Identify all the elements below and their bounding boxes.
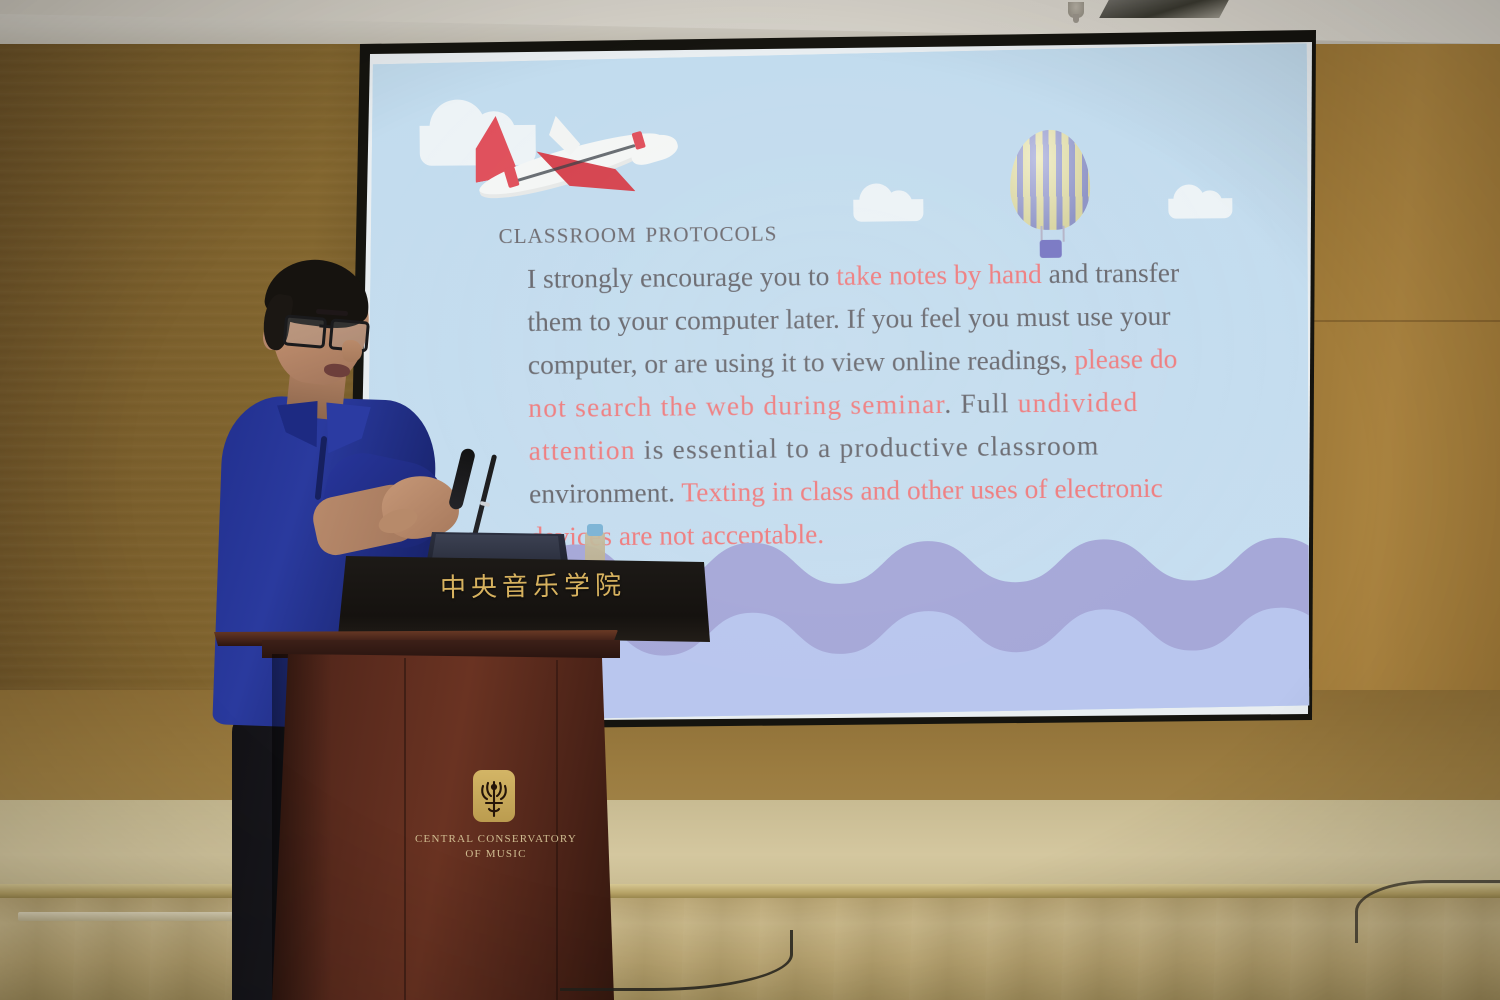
highlight-segment: take notes by hand [836,258,1042,291]
sprinkler-icon [1068,2,1084,18]
floor-cable-right [1355,880,1500,943]
podium-sign-chinese: 中央音乐学院 [440,565,640,605]
slide-body-text: I strongly encourage you to take notes b… [527,250,1242,558]
highlight-segment: Texting in class and other uses of elect… [681,472,1163,508]
podium-edge-2 [556,660,558,1000]
highlight-segment: not search the web during seminar [528,388,944,423]
text-segment: . Full [944,387,1018,419]
hot-air-balloon-icon [1010,129,1091,256]
text-segment: I strongly encourage you to [527,260,837,294]
podium-logo-line1: Central Conservatory [412,832,580,847]
text-segment: environment. [529,476,682,508]
podium-logo-text: Central Conservatory of Music [412,832,580,862]
podium-shadow [272,654,332,1000]
cloud-small-mid-icon [853,199,923,222]
ceiling-vent-icon [1099,0,1229,18]
airplane-icon [433,101,674,213]
slide-line-4: not search the web during seminar. Full … [528,379,1240,429]
conservatory-emblem-icon [473,770,515,822]
slide-line-6: environment. Texting in class and other … [529,465,1241,515]
bottle-cap [587,524,603,536]
podium-logo-line2: of Music [412,847,580,862]
podium-edge [404,658,406,1000]
text-segment: them to your computer later. If you feel… [527,300,1170,337]
highlight-segment: please do [1074,343,1177,375]
presenter-nose [342,340,362,362]
highlight-segment: undivided [1018,386,1139,418]
slide-line-5: attention is essential to a productive c… [528,422,1240,472]
highlight-segment: attention [529,434,636,466]
lecture-photo-scene: CLASSROOM PROTOCOLS I strongly encourage… [0,0,1500,1000]
cloud-small-right-icon [1168,198,1232,219]
slide-line-2: them to your computer later. If you feel… [527,293,1239,343]
slide-line-3: computer, or are using it to view online… [528,336,1240,386]
text-segment: is essential to a productive classroom [636,429,1100,464]
slide-line-1: I strongly encourage you to take notes b… [527,250,1239,300]
slide-title: CLASSROOM PROTOCOLS [498,214,777,251]
text-segment: and transfer [1042,257,1180,289]
text-segment: computer, or are using it to view online… [528,344,1075,380]
